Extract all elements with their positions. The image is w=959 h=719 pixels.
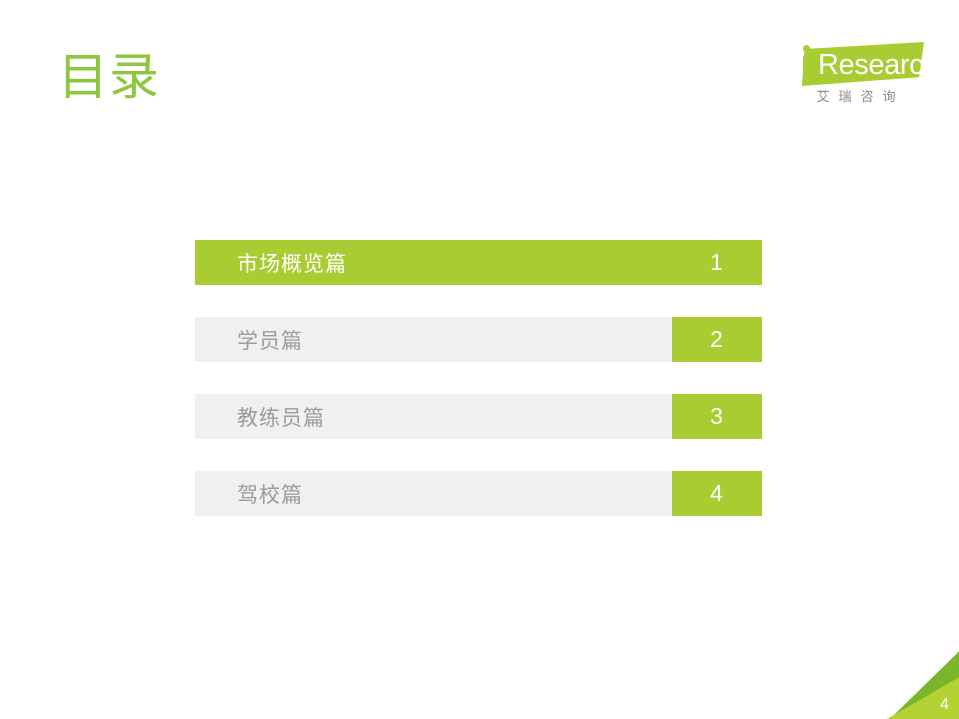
toc-row-3[interactable]: 教练员篇 3 [195,394,762,439]
slide-canvas: 目录 Research 艾瑞咨询 市场概览篇 1 学员篇 2 教练员篇 3 驾校… [0,0,959,719]
toc-row-4[interactable]: 驾校篇 4 [195,471,762,516]
toc-label-4: 驾校篇 [195,471,672,516]
page-title: 目录 [58,46,160,108]
table-of-contents: 市场概览篇 1 学员篇 2 教练员篇 3 驾校篇 4 [195,240,762,516]
toc-number-2: 2 [672,317,762,362]
toc-label-2: 学员篇 [195,317,672,362]
logo-chinese-name: 艾瑞咨询 [788,88,924,106]
logo-i-dot-icon [803,45,810,52]
logo-wordmark: Research [818,47,924,83]
toc-number-1: 1 [672,240,762,285]
toc-label-3: 教练员篇 [195,394,672,439]
toc-row-1[interactable]: 市场概览篇 1 [195,240,762,285]
logo-i-stem [803,56,810,82]
toc-number-4: 4 [672,471,762,516]
toc-row-2[interactable]: 学员篇 2 [195,317,762,362]
toc-label-1: 市场概览篇 [195,240,672,285]
page-number: 4 [940,696,949,714]
iresearch-logo: Research 艾瑞咨询 [782,34,924,116]
toc-number-3: 3 [672,394,762,439]
